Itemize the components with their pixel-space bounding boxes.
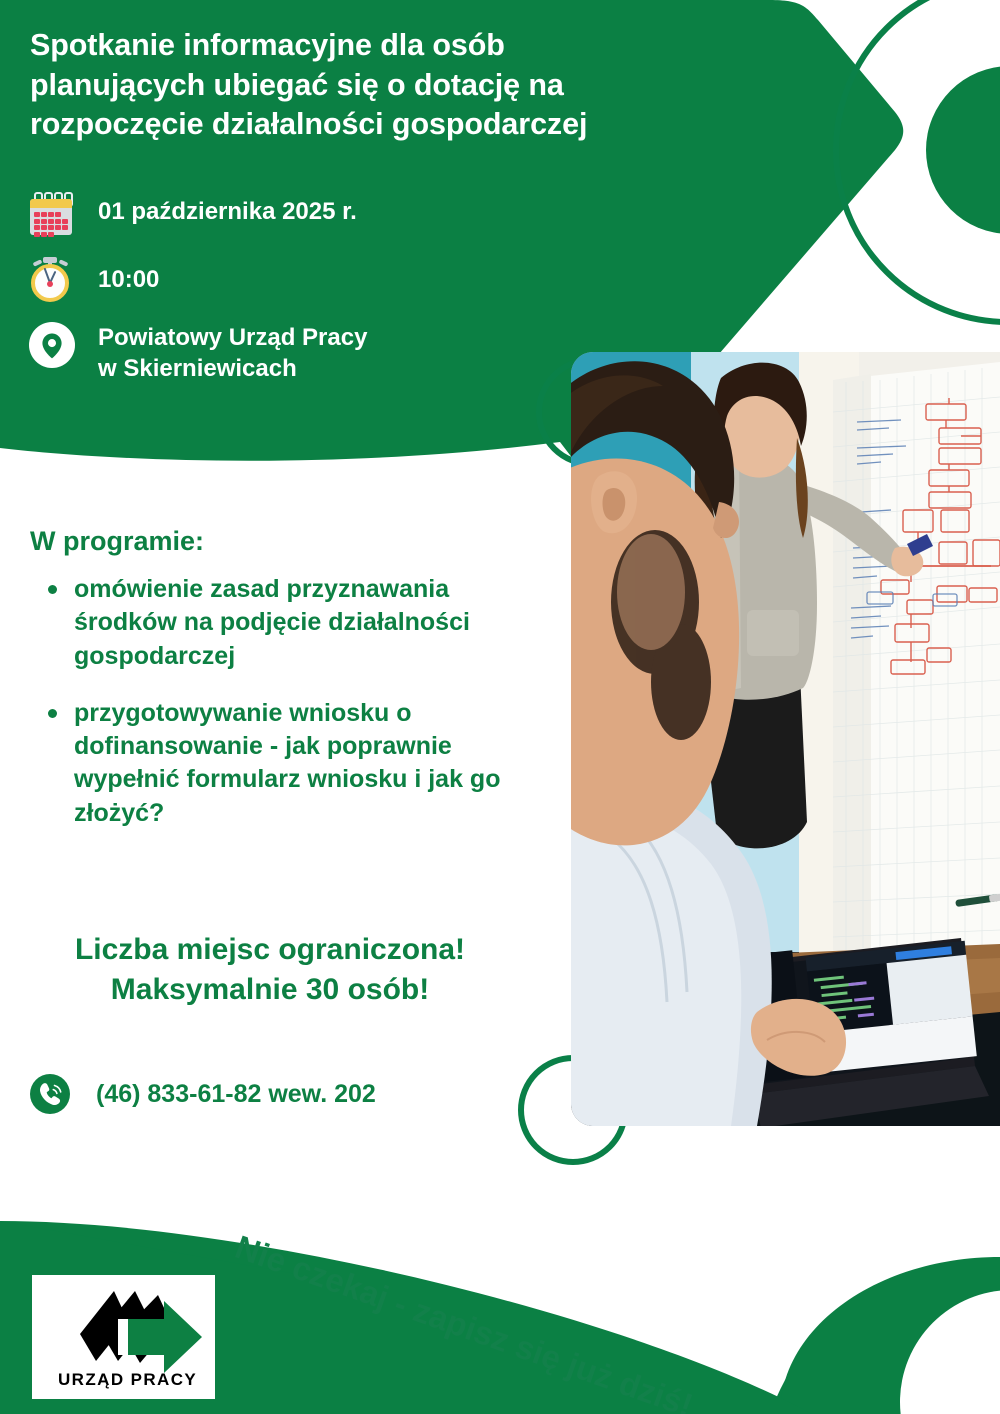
limited-seats-line-2: Maksymalnie 30 osób! xyxy=(0,970,540,1010)
detail-row-location: Powiatowy Urząd Pracy w Skierniewicach xyxy=(28,320,548,384)
page-title: Spotkanie informacyjne dla osób planując… xyxy=(30,26,670,145)
detail-row-date: 01 października 2025 r. xyxy=(28,188,548,236)
urzad-pracy-logo: URZĄD PRACY xyxy=(32,1275,215,1399)
program-item-text: przygotowywanie wniosku o dofinansowanie… xyxy=(74,699,500,827)
program-title: W programie: xyxy=(30,526,550,557)
footer-right-donut xyxy=(770,1257,1000,1414)
meeting-photo xyxy=(571,352,1000,1126)
detail-label-time: 10:00 xyxy=(98,254,159,295)
logo-wordmark: URZĄD PRACY xyxy=(58,1370,197,1389)
contact-row[interactable]: (46) 833-61-82 wew. 202 xyxy=(30,1074,376,1114)
bullet-icon xyxy=(48,585,57,594)
phone-number[interactable]: (46) 833-61-82 wew. 202 xyxy=(96,1080,376,1109)
program-list-item: omówienie zasad przyznawania środków na … xyxy=(30,573,550,673)
detail-label-location: Powiatowy Urząd Pracy w Skierniewicach xyxy=(98,320,367,384)
detail-row-time: 10:00 xyxy=(28,254,548,302)
limited-seats-line-1: Liczba miejsc ograniczona! xyxy=(0,930,540,970)
location-pin-icon xyxy=(28,320,76,368)
detail-label-date: 01 października 2025 r. xyxy=(98,188,357,227)
program-section: W programie: omówienie zasad przyznawani… xyxy=(30,526,550,830)
poster-root: Spotkanie informacyjne dla osób planując… xyxy=(0,0,1000,1414)
program-item-text: omówienie zasad przyznawania środków na … xyxy=(74,575,470,670)
limited-seats-note: Liczba miejsc ograniczona! Maksymalnie 3… xyxy=(0,930,540,1010)
event-details: 01 października 2025 r. 10:00 xyxy=(28,188,548,384)
top-right-filled-circle xyxy=(926,66,1000,234)
program-list-item: przygotowywanie wniosku o dofinansowanie… xyxy=(30,697,550,830)
bullet-icon xyxy=(48,709,57,718)
calendar-icon xyxy=(28,188,76,236)
phone-icon xyxy=(30,1074,70,1114)
program-list: omówienie zasad przyznawania środków na … xyxy=(30,573,550,830)
stopwatch-icon xyxy=(28,254,76,302)
